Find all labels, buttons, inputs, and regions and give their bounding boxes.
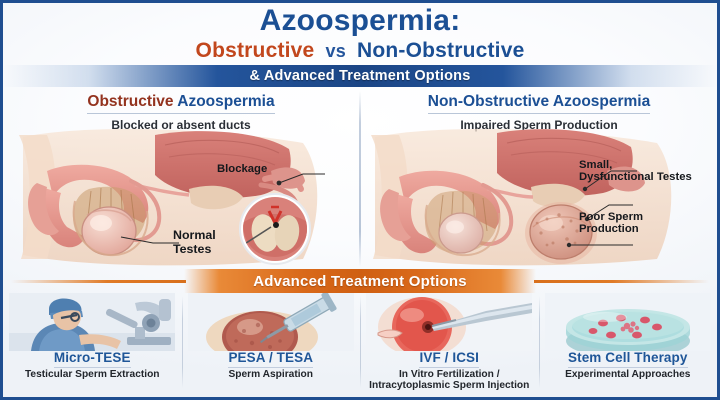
treatment-options-banner-core: Advanced Treatment Options bbox=[184, 269, 536, 293]
callout-normal-testes-line1: Normal bbox=[173, 229, 216, 243]
panel-obstructive-title: Obstructive Azoospermia bbox=[87, 93, 274, 114]
treatment-card-stem-cell-therapy-title-text: Stem Cell Therapy bbox=[568, 350, 688, 368]
petri-dish-icon bbox=[545, 293, 712, 351]
banner-rule-left bbox=[11, 280, 186, 283]
callout-blockage: Blockage bbox=[217, 163, 267, 175]
icsi-injection-icon bbox=[366, 293, 533, 351]
title-zone: Azoospermia: Obstructive vs Non-Obstruct… bbox=[3, 3, 717, 65]
treatment-card-micro-tese-description: Testicular Sperm Extraction bbox=[5, 369, 180, 380]
panel-non-obstructive-title: Non-Obstructive Azoospermia bbox=[428, 93, 651, 114]
treatment-card-micro-tese-title-text: Micro-TESE bbox=[54, 350, 131, 368]
callout-normal-testes: Normal Testes bbox=[173, 229, 216, 256]
infographic-poster: Azoospermia: Obstructive vs Non-Obstruct… bbox=[0, 0, 720, 400]
treatment-card-pesa-tesa-title-text: PESA / TESA bbox=[228, 350, 313, 368]
treatment-card-ivf-icsi-description: In Vitro Fertilization / Intracytoplasmi… bbox=[362, 369, 537, 392]
callout-poor-sperm-production-line1: Poor Sperm bbox=[579, 211, 643, 223]
treatment-card-stem-cell-therapy-title: Stem Cell Therapy bbox=[539, 350, 718, 368]
subtitle-obstructive: Obstructive bbox=[196, 39, 315, 62]
comparison-panels: Obstructive Azoospermia Blocked or absen… bbox=[3, 87, 717, 269]
surgeon-microscope-icon bbox=[9, 293, 176, 351]
callout-small-dysfunctional-testes-line2: Dysfunctional Testes bbox=[579, 171, 692, 183]
treatment-card-stem-cell-therapy-description: Experimental Approaches bbox=[541, 369, 716, 380]
treatment-card-micro-tese-title: Micro-TESE bbox=[3, 350, 182, 368]
treatment-card-pesa-tesa[interactable]: PESA / TESA Sperm Aspiration bbox=[182, 293, 361, 397]
banner-rule-right bbox=[534, 280, 709, 283]
panel-obstructive-title-word1: Obstructive bbox=[87, 93, 173, 110]
callout-small-dysfunctional-testes-line1: Small, bbox=[579, 159, 692, 171]
needle-aspiration-icon bbox=[188, 293, 355, 351]
callout-normal-testes-line2: Testes bbox=[173, 243, 216, 257]
treatment-card-pesa-tesa-description: Sperm Aspiration bbox=[184, 369, 359, 380]
treatment-card-pesa-tesa-title: PESA / TESA bbox=[182, 350, 361, 368]
page-title: Azoospermia: bbox=[3, 4, 717, 38]
non-obstructive-anatomy-illustration bbox=[361, 127, 717, 269]
subtitle-non-obstructive: Non-Obstructive bbox=[357, 39, 525, 62]
treatment-cards: Micro-TESE Testicular Sperm Extraction bbox=[3, 293, 717, 397]
panel-non-obstructive: Non-Obstructive Azoospermia Impaired Spe… bbox=[361, 87, 717, 269]
treatment-options-banner-text: Advanced Treatment Options bbox=[253, 273, 467, 290]
treatment-card-stem-cell-therapy[interactable]: Stem Cell Therapy Experimental Approache… bbox=[539, 293, 718, 397]
treatment-card-ivf-icsi-title-text: IVF / ICSI bbox=[419, 350, 479, 368]
treatment-options-banner: Advanced Treatment Options bbox=[3, 269, 717, 293]
treatment-card-ivf-icsi-description-line1: In Vitro Fertilization / bbox=[362, 369, 537, 380]
advanced-options-banner: & Advanced Treatment Options bbox=[3, 65, 717, 87]
callout-small-dysfunctional-testes: Small, Dysfunctional Testes bbox=[579, 159, 692, 184]
callout-poor-sperm-production: Poor Sperm Production bbox=[579, 211, 643, 236]
panel-obstructive-title-word2: Azoospermia bbox=[177, 93, 274, 110]
advanced-options-banner-text: & Advanced Treatment Options bbox=[250, 68, 471, 84]
treatment-card-ivf-icsi-title: IVF / ICSI bbox=[360, 350, 539, 368]
callout-poor-sperm-production-line2: Production bbox=[579, 223, 643, 235]
treatment-card-ivf-icsi[interactable]: IVF / ICSI In Vitro Fertilization / Intr… bbox=[360, 293, 539, 397]
subtitle-vs: vs bbox=[320, 41, 350, 61]
page-subtitle: Obstructive vs Non-Obstructive bbox=[3, 39, 717, 63]
panel-obstructive: Obstructive Azoospermia Blocked or absen… bbox=[3, 87, 359, 269]
treatment-card-ivf-icsi-description-line2: Intracytoplasmic Sperm Injection bbox=[362, 380, 537, 391]
treatment-card-micro-tese[interactable]: Micro-TESE Testicular Sperm Extraction bbox=[3, 293, 182, 397]
